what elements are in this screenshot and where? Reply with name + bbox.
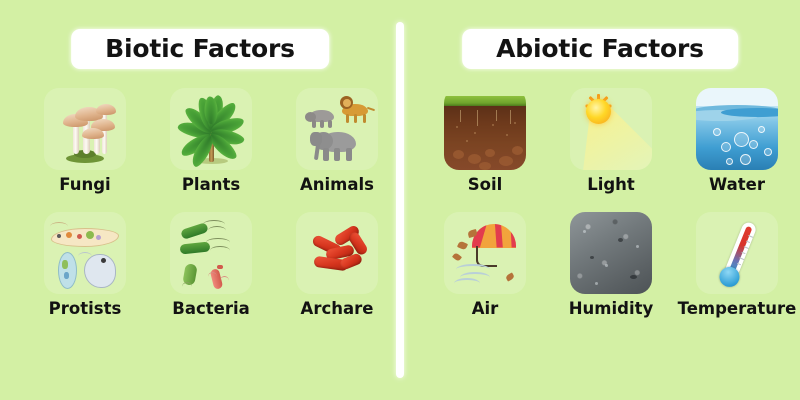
cell-animals[interactable]: Animals (278, 88, 396, 194)
cell-label-fungi: Fungi (59, 177, 110, 194)
mushrooms-icon (44, 88, 126, 170)
panel-title-abiotic: Abiotic Factors (462, 29, 738, 69)
bacteria-icon (170, 212, 252, 294)
cell-label-temperature: Temperature (678, 301, 797, 318)
tile-light[interactable] (570, 88, 652, 170)
grid-abiotic: Soil (400, 88, 800, 335)
condensation-icon (570, 212, 652, 294)
cell-light[interactable]: Light (552, 88, 670, 194)
cell-label-soil: Soil (468, 177, 503, 194)
tile-soil[interactable] (444, 88, 526, 170)
tile-water[interactable] (696, 88, 778, 170)
archaea-icon (296, 212, 378, 294)
cell-soil[interactable]: Soil (426, 88, 544, 194)
panel-title-biotic-label: Biotic Factors (105, 36, 295, 61)
ecosystem-factors-infographic: Biotic Factors (0, 0, 800, 400)
tile-protists[interactable] (44, 212, 126, 294)
cell-label-water: Water (709, 177, 765, 194)
tile-archare[interactable] (296, 212, 378, 294)
cell-bacteria[interactable]: Bacteria (152, 212, 270, 318)
cell-label-plants: Plants (182, 177, 240, 194)
palm-tree-icon (170, 88, 252, 170)
tile-temperature[interactable] (696, 212, 778, 294)
tile-plants[interactable] (170, 88, 252, 170)
panel-abiotic: Abiotic Factors (400, 0, 800, 400)
cell-label-light: Light (587, 177, 635, 194)
cell-label-protists: Protists (49, 301, 122, 318)
tile-humidity[interactable] (570, 212, 652, 294)
cell-humidity[interactable]: Humidity (552, 212, 670, 318)
panel-biotic: Biotic Factors (0, 0, 400, 400)
umbrella-wind-icon (444, 212, 526, 294)
cell-temperature[interactable]: Temperature (678, 212, 796, 318)
thermometer-icon (696, 212, 778, 294)
soil-icon (444, 88, 526, 170)
cell-label-bacteria: Bacteria (172, 301, 250, 318)
tile-animals[interactable] (296, 88, 378, 170)
water-icon (696, 88, 778, 170)
tile-bacteria[interactable] (170, 212, 252, 294)
tile-fungi[interactable] (44, 88, 126, 170)
sun-light-icon (570, 88, 652, 170)
cell-label-animals: Animals (300, 177, 374, 194)
grid-biotic: Fungi (0, 88, 422, 335)
cell-label-humidity: Humidity (569, 301, 654, 318)
cell-label-air: Air (472, 301, 499, 318)
protists-icon (44, 212, 126, 294)
cell-plants[interactable]: Plants (152, 88, 270, 194)
cell-archare[interactable]: Archare (278, 212, 396, 318)
cell-water[interactable]: Water (678, 88, 796, 194)
cell-protists[interactable]: Protists (26, 212, 144, 318)
cell-fungi[interactable]: Fungi (26, 88, 144, 194)
cell-air[interactable]: Air (426, 212, 544, 318)
animals-icon (296, 88, 378, 170)
panel-title-biotic: Biotic Factors (71, 29, 329, 69)
cell-label-archare: Archare (301, 301, 374, 318)
panel-title-abiotic-label: Abiotic Factors (496, 36, 704, 61)
tile-air[interactable] (444, 212, 526, 294)
